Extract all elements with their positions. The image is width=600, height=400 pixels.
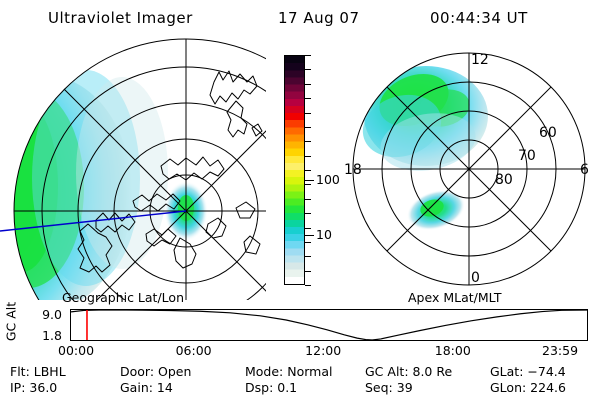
colorbar-major-tick-0	[305, 180, 314, 181]
colorbar-tick	[305, 285, 311, 286]
colorbar-tick	[305, 213, 311, 214]
observation-time: 00:44:34 UT	[430, 9, 528, 27]
status-glon: GLon: 224.6	[490, 380, 566, 395]
aurora-emission-layer	[0, 70, 208, 300]
status-mode: Mode: Normal	[245, 364, 332, 379]
status-door: Door: Open	[120, 364, 191, 379]
colorbar-tick	[305, 271, 311, 272]
colorbar-tick	[305, 141, 311, 142]
colorbar-tick	[305, 127, 311, 128]
observation-date: 17 Aug 07	[278, 9, 360, 27]
timeline-xtick-3: 18:00	[435, 343, 471, 358]
colorbar-panel: photon cm⁻²s⁻¹ 100 10	[266, 38, 340, 300]
timeline-xtick-1: 06:00	[176, 343, 212, 358]
mlt-label-12: 12	[471, 52, 489, 68]
colorbar-tick	[305, 156, 311, 157]
status-footer: Flt: LBHL Door: Open Mode: Normal GC Alt…	[0, 362, 600, 400]
altitude-timeline: GC Alt 9.0 1.8 00:0006:0012:0018:0023:59	[0, 300, 600, 358]
mlt-label-6: 6	[580, 162, 589, 178]
mlt-label-18: 18	[344, 162, 362, 178]
instrument-title: Ultraviolet Imager	[48, 9, 193, 27]
colorbar-tick	[305, 69, 311, 70]
status-dsp: Dsp: 0.1	[245, 380, 297, 395]
status-gc-alt: GC Alt: 8.0 Re	[365, 364, 452, 379]
status-ip: IP: 36.0	[10, 380, 57, 395]
colorbar-label-100: 100	[316, 174, 340, 187]
colorbar-tick	[305, 98, 311, 99]
timeline-xtick-4: 23:59	[542, 343, 578, 358]
colorbar-tick	[305, 242, 311, 243]
aurora-faint-edge	[76, 77, 168, 269]
colorbar-major-tick-1	[305, 235, 314, 236]
timeline-xtick-2: 12:00	[305, 343, 341, 358]
colorbar-gradient	[284, 55, 305, 285]
timeline-xtick-0: 00:00	[58, 343, 94, 358]
colorbar-tick	[305, 184, 311, 185]
colorbar-tick	[305, 84, 311, 85]
gc-alt-curve	[71, 310, 587, 340]
timeline-plot-box[interactable]	[70, 309, 588, 341]
colorbar-tick	[305, 113, 311, 114]
timeline-y-axis-label: GC Alt	[4, 297, 19, 347]
screenshot-root: Ultraviolet Imager 17 Aug 07 00:44:34 UT	[0, 0, 600, 400]
mlt-aurora-layer	[355, 64, 488, 237]
status-gain: Gain: 14	[120, 380, 173, 395]
mlt-plot-canvas: 12 18 6 0 60 70 80	[340, 38, 600, 300]
mlt-label-0: 0	[471, 270, 480, 286]
timeline-ytick-bottom: 1.8	[28, 328, 62, 343]
mlt-polar-plot: 12 18 6 0 60 70 80	[340, 38, 600, 300]
colorbar-label-10: 10	[316, 229, 332, 242]
status-seq: Seq: 39	[365, 380, 413, 395]
colorbar-tick	[305, 228, 311, 229]
colorbar-tick	[305, 170, 311, 171]
status-glat: GLat: −74.4	[490, 364, 566, 379]
timeline-curve-canvas	[71, 310, 587, 340]
mlt-spokes	[353, 53, 585, 285]
header-bar: Ultraviolet Imager 17 Aug 07 00:44:34 UT	[0, 5, 600, 31]
mlat-label-80: 80	[495, 172, 513, 188]
geographic-polar-plot	[0, 38, 266, 300]
geographic-plot-canvas	[0, 38, 266, 300]
mlat-label-60: 60	[539, 125, 557, 141]
timeline-ytick-top: 9.0	[28, 307, 62, 322]
status-filter: Flt: LBHL	[10, 364, 66, 379]
colorbar-tick	[305, 55, 311, 56]
colorbar-tick	[305, 199, 311, 200]
mlat-label-70: 70	[518, 148, 536, 164]
colorbar-tick	[305, 256, 311, 257]
